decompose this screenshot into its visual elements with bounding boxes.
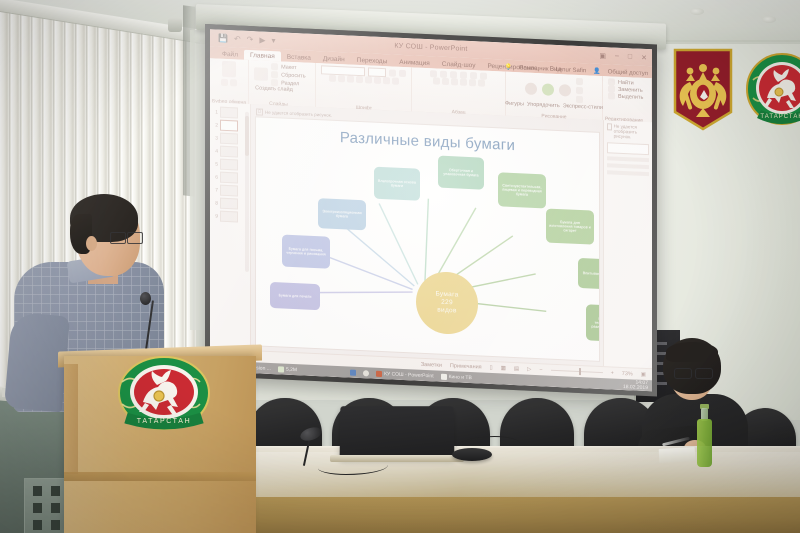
copy-icon[interactable] [230, 79, 237, 86]
cut-icon[interactable] [221, 79, 228, 86]
reset-icon[interactable] [271, 71, 278, 78]
slide-canvas-area[interactable]: ▯ Не удается отобразить рисунок. Различн… [251, 104, 603, 367]
font-color-icon[interactable] [392, 77, 399, 84]
powerpoint-icon [376, 370, 382, 376]
character-spacing-icon[interactable] [374, 77, 381, 84]
mindmap-node-1[interactable]: Бумага для печати [270, 282, 320, 310]
decrease-font-icon[interactable] [399, 70, 406, 77]
mindmap-node-4[interactable]: Влагопрочная основа бумаги [374, 167, 420, 201]
slide-thumbnail-pane[interactable]: 1 2 3 4 5 6 7 8 9 [210, 102, 251, 351]
thumb-number: 6 [213, 174, 218, 180]
powerpoint-workspace: 1 2 3 4 5 6 7 8 9 ▯ Не удае [210, 102, 652, 369]
thumbnail-scrollbar[interactable] [245, 112, 249, 272]
broken-image-text: Не удается отобразить рисунок. [265, 110, 332, 118]
broken-image-icon [607, 123, 612, 130]
sorter-view-icon[interactable]: ▦ [501, 365, 506, 371]
select-label[interactable]: Выделить [618, 93, 643, 100]
thumb-number: 7 [213, 187, 218, 193]
quickstyles-label[interactable]: Экспресс-стили [563, 103, 603, 111]
arrange-icon[interactable] [542, 83, 554, 96]
mindmap-node-7[interactable]: Бумага для изготовления товаров и сигаре… [546, 208, 594, 244]
increase-font-icon[interactable] [389, 69, 396, 76]
change-case-icon[interactable] [383, 77, 390, 84]
ceiling-fixture-icon [690, 8, 704, 15]
mindmap-node-6[interactable]: Светочувствительная, лицевая и переводна… [498, 172, 546, 208]
taskbar-label: Кино и ТВ [449, 374, 472, 381]
blinds-bracket [168, 18, 182, 32]
taskbar-item-browser[interactable] [350, 369, 356, 375]
presenter-glasses [110, 232, 142, 243]
ribbon-group-paragraph[interactable]: Абзац [412, 67, 506, 117]
tatarstan-emblem-icon: ТАТАРСТАН [745, 50, 800, 128]
attendee-glasses [674, 368, 711, 378]
italic-icon[interactable] [338, 75, 345, 82]
new-slide-label[interactable]: Создать слайд [255, 85, 293, 93]
ribbon-display-icon[interactable]: ▣ [599, 51, 606, 59]
user-name-label: Lenur Safin [556, 66, 587, 73]
shape-effects-icon[interactable] [576, 96, 583, 103]
zoom-slider[interactable] [551, 370, 603, 373]
taskbar-item-powerpoint[interactable]: КУ СОШ - PowerPoint [376, 370, 434, 379]
mindmap-node-2[interactable]: Бумага для письма, черчения и рисования [282, 234, 330, 268]
mindmap-diagram[interactable]: Бумага для печати Бумага для письма, чер… [256, 117, 599, 361]
ribbon-group-drawing[interactable]: Фигуры Упорядочить Экспресс-стили Рисова… [506, 72, 603, 122]
pane-row [607, 156, 649, 162]
minimize-icon[interactable]: – [615, 52, 619, 60]
pane-row [607, 170, 649, 176]
powerpoint-window[interactable]: 💾 ↶ ↷ ▶ ▾ КУ СОШ - PowerPoint ▣ – □ ✕ [210, 29, 652, 391]
zoom-in-button[interactable]: + [611, 370, 614, 376]
russia-emblem-icon [673, 48, 733, 131]
notepad [659, 447, 696, 463]
projection-screen: 💾 ↶ ↷ ▶ ▾ КУ СОШ - PowerPoint ▣ – □ ✕ [205, 24, 657, 397]
broken-image-icon: ▯ [256, 108, 263, 115]
mindmap-node-9[interactable]: Промышленно-техническая бумага различног… [586, 304, 599, 342]
thumb-number: 5 [213, 161, 218, 167]
close-icon[interactable]: ✕ [641, 53, 647, 61]
taskbar-item-app[interactable] [363, 370, 369, 376]
attendee-fringe [666, 342, 718, 362]
presentation-room-photo: ТАТАРСТАН 💾 ↶ ↷ ▶ ▾ КУ СОШ - PowerPoint [0, 0, 800, 533]
podium-microphone [140, 292, 151, 305]
folder-icon [278, 366, 284, 372]
new-slide-icon[interactable] [254, 67, 268, 81]
podium-side-panel [64, 364, 78, 474]
share-label[interactable]: Общий доступ [608, 69, 648, 77]
shapes-label[interactable]: Фигуры [505, 101, 524, 108]
ribbon-group-editing[interactable]: Найти Заменить Выделить Редактирование [603, 76, 652, 124]
underline-icon[interactable] [347, 75, 354, 82]
center-line-3: видов [437, 307, 456, 316]
thumb-number: 2 [213, 122, 218, 128]
ribbon-group-clipboard[interactable]: Буфер обмена [210, 58, 249, 106]
movies-tv-icon [441, 373, 447, 379]
mindmap-node-3[interactable]: Электроизоляционная бумага [318, 198, 366, 230]
podium-trim [64, 472, 256, 481]
zoom-level[interactable]: 73% [622, 370, 633, 377]
tell-me-label[interactable]: Помощник [519, 65, 548, 72]
align-right-icon[interactable] [451, 78, 458, 85]
ribbon-group-font[interactable]: Шрифт [316, 63, 412, 113]
laptop [340, 406, 455, 458]
taskbar-label: 5,2М [286, 366, 297, 373]
right-task-pane[interactable]: Не удается отобразить рисунок. [603, 120, 652, 369]
cable [456, 436, 520, 455]
browser-icon [350, 369, 356, 375]
notes-button[interactable]: Заметки [421, 361, 442, 368]
taskbar-label: КУ СОШ - PowerPoint [384, 371, 434, 379]
strikethrough-icon[interactable] [365, 76, 372, 83]
app-icon [363, 370, 369, 376]
reset-label[interactable]: Сбросить [281, 72, 305, 79]
normal-view-icon[interactable]: ▯ [490, 364, 493, 370]
thumbnail-9[interactable]: 9 [210, 209, 250, 224]
shape-fill-icon[interactable] [576, 78, 583, 85]
green-bottle [697, 419, 712, 467]
pane-thumb[interactable] [607, 142, 649, 155]
bold-icon[interactable] [329, 75, 336, 82]
columns-icon[interactable] [469, 79, 476, 86]
taskbar-item-folder[interactable]: 5,2М [278, 366, 297, 373]
right-pane-notice: Не удается отобразить рисунок. [607, 123, 649, 140]
thumb-number: 4 [213, 148, 218, 154]
quick-styles-icon[interactable] [559, 84, 571, 97]
mindmap-node-5[interactable]: Оберточная и упаковочная бумага [438, 156, 484, 190]
thumb-number: 8 [213, 200, 218, 206]
taskbar-item-movies[interactable]: Кино и ТВ [441, 373, 472, 380]
tatarstan-caption: ТАТАРСТАН [760, 114, 800, 120]
thumb-number: 1 [213, 109, 218, 115]
maximize-icon[interactable]: □ [628, 53, 632, 61]
mindmap-node-8[interactable]: Впитывающая бумага [578, 258, 599, 290]
shapes-gallery-icon[interactable] [525, 82, 537, 95]
font-size-input[interactable] [368, 67, 386, 77]
justify-icon[interactable] [460, 79, 467, 86]
layout-label[interactable]: Макет [281, 64, 297, 71]
select-icon[interactable] [608, 92, 615, 99]
section-icon[interactable] [271, 79, 278, 86]
seated-attendee [636, 336, 756, 462]
arrange-label[interactable]: Упорядочить [527, 102, 560, 109]
podium-tatarstan-emblem-icon: ТАТАРСТАН [116, 356, 212, 430]
pane-row [607, 163, 649, 169]
align-left-icon[interactable] [433, 77, 440, 84]
paste-icon[interactable] [222, 61, 236, 78]
share-icon[interactable]: 👤 [593, 68, 600, 75]
window-controls[interactable]: ▣ – □ ✕ [599, 51, 647, 61]
slideshow-icon[interactable]: ▷ [527, 366, 531, 372]
table-front-panel [240, 497, 800, 533]
shape-outline-icon[interactable] [576, 87, 583, 94]
right-pane-text: Не удается отобразить рисунок. [614, 124, 649, 141]
reading-view-icon[interactable]: ▤ [514, 366, 519, 372]
tell-me-icon[interactable]: 💡 [505, 64, 512, 71]
ribbon-group-slides[interactable]: Макет Сбросить Раздел Создать слайд Слай… [249, 60, 316, 109]
thumb-number: 9 [213, 213, 218, 219]
convert-smartart-icon[interactable] [478, 79, 485, 86]
comments-button[interactable]: Примечания [450, 363, 482, 370]
presenter-ear [86, 236, 97, 251]
layout-icon[interactable] [271, 63, 278, 70]
podium-emblem-caption: ТАТАРСТАН [137, 418, 191, 425]
shadow-icon[interactable] [356, 76, 363, 83]
align-center-icon[interactable] [442, 78, 449, 85]
slide-canvas[interactable]: Различные виды бумаги [256, 117, 599, 361]
thumb-number: 3 [213, 135, 218, 141]
zoom-out-button[interactable]: − [539, 367, 542, 373]
ceiling-fixture-icon [762, 16, 776, 23]
